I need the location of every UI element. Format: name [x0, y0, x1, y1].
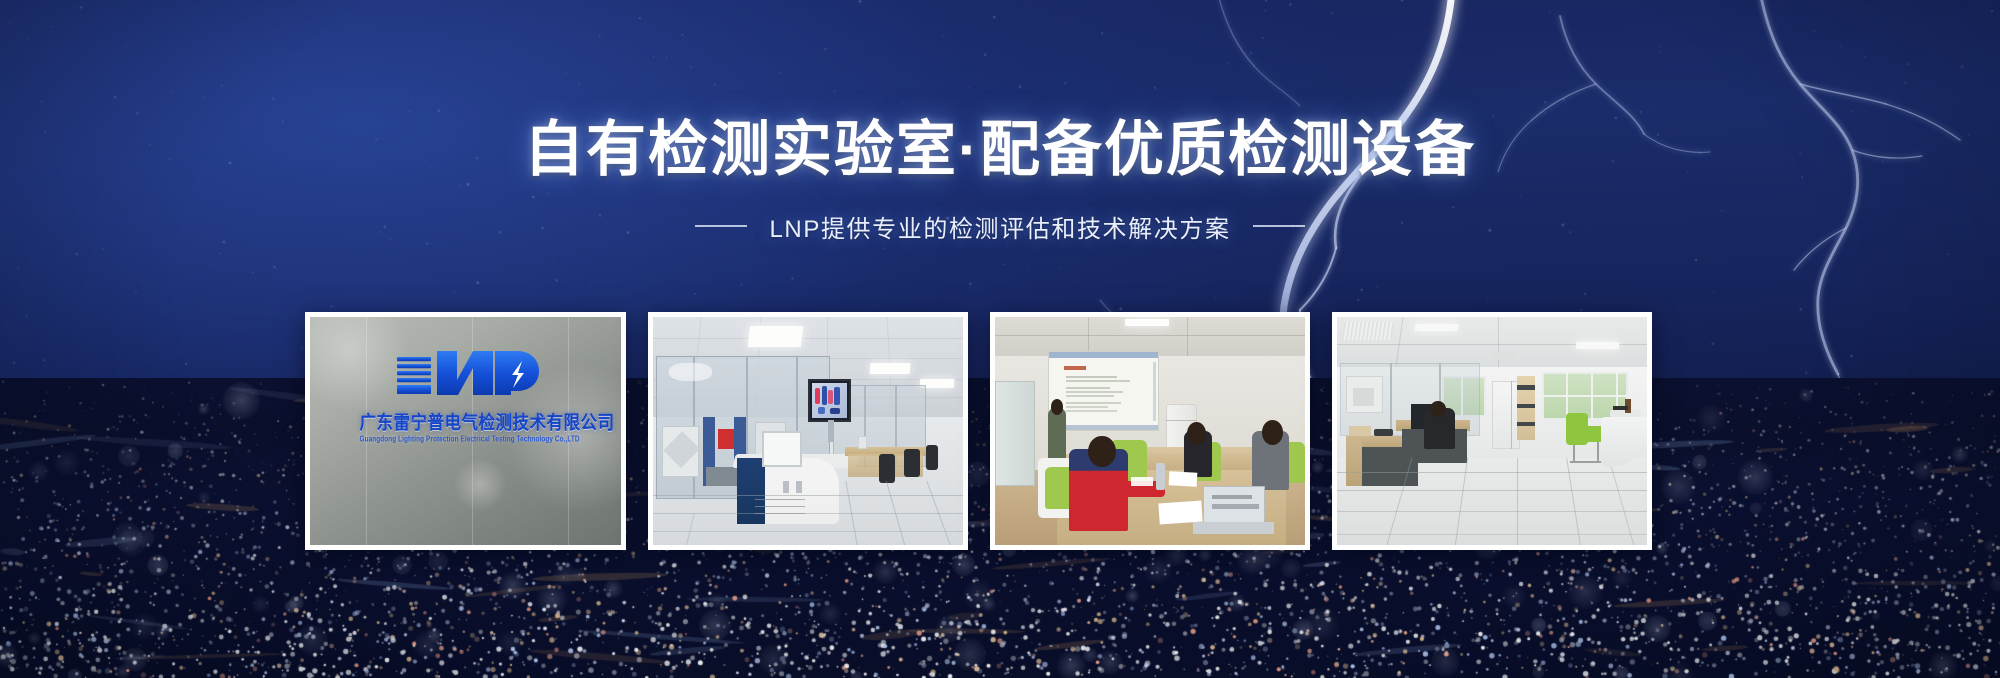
office-chair	[879, 454, 895, 484]
tall-cabinet	[1492, 381, 1520, 449]
page-subtitle: LNP提供专业的检测评估和技术解决方案	[769, 209, 1230, 244]
photo-office-area[interactable]	[1332, 312, 1652, 550]
photo-company-signage-image: 广东雷宁普电气检测技术有限公司 Guangdong Lighting Prote…	[310, 317, 621, 545]
ceiling-light	[748, 326, 803, 347]
hero-banner: 自有检测实验室·配备优质检测设备 LNP提供专业的检测评估和技术解决方案	[0, 0, 2000, 678]
dash-right-icon	[1253, 225, 1305, 227]
photo-office-area-image	[1337, 317, 1647, 545]
page-title: 自有检测实验室·配备优质检测设备	[0, 118, 2000, 183]
signage-company-name-cn: 广东雷宁普电气检测技术有限公司	[360, 407, 572, 434]
photo-testing-laboratory[interactable]	[648, 312, 968, 550]
photo-strip: 广东雷宁普电气检测技术有限公司 Guangdong Lighting Prote…	[305, 312, 1648, 550]
photo-meeting-room[interactable]	[990, 312, 1310, 550]
office-chair	[926, 445, 938, 470]
signage-company-name-en: Guangdong Lighting Protection Electrical…	[360, 435, 572, 444]
dash-left-icon	[695, 225, 747, 227]
visitor-chair	[1579, 426, 1604, 442]
subtitle-row: LNP提供专业的检测评估和技术解决方案	[0, 209, 2000, 244]
photo-testing-laboratory-image	[653, 317, 963, 545]
office-chair	[904, 449, 920, 476]
photo-meeting-room-image	[995, 317, 1305, 545]
wall-monitor	[808, 379, 851, 422]
person-standing	[1048, 408, 1067, 463]
console-monitor	[762, 431, 802, 467]
hero-text-block: 自有检测实验室·配备优质检测设备 LNP提供专业的检测评估和技术解决方案	[0, 118, 2000, 244]
lnp-logo-icon	[391, 347, 541, 405]
glass-door	[995, 381, 1035, 486]
lnp-logo-block: 广东雷宁普电气检测技术有限公司 Guangdong Lighting Prote…	[360, 347, 572, 443]
photo-company-signage[interactable]: 广东雷宁普电气检测技术有限公司 Guangdong Lighting Prote…	[305, 312, 626, 550]
ceiling-light	[870, 363, 911, 374]
